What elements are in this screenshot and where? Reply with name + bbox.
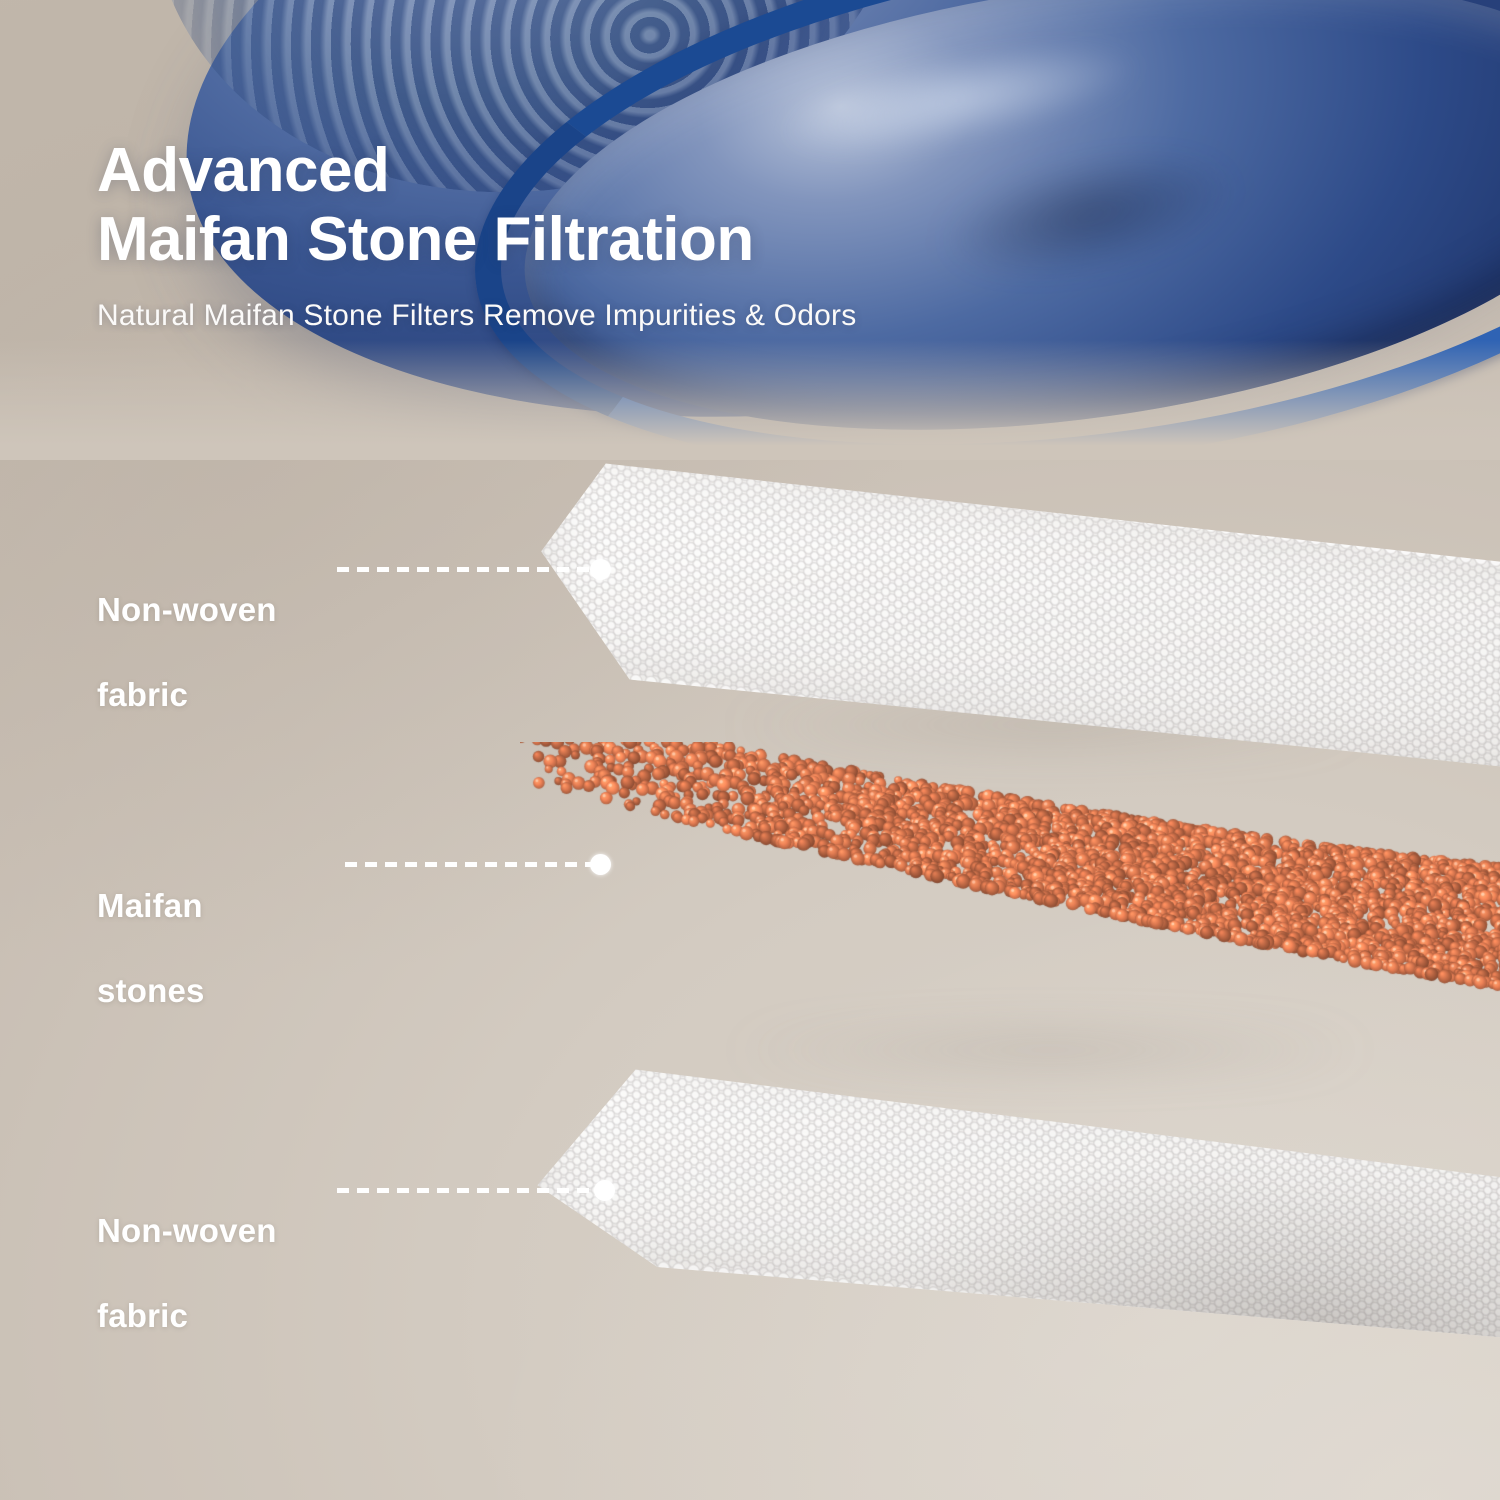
- callout-label-line-1: Non-woven: [97, 589, 277, 631]
- layer-non-woven-fabric-top: [539, 447, 1500, 789]
- layer-non-woven-fabric-bottom: [536, 1048, 1500, 1349]
- fabric-shading-bottom: [536, 1048, 1500, 1349]
- product-bottom-fade: [0, 340, 1500, 460]
- product-feature-graphic: Advanced Maifan Stone Filtration Natural…: [0, 0, 1500, 1500]
- page-title: Advanced Maifan Stone Filtration: [97, 136, 1097, 275]
- maifan-stone-granules: [520, 742, 1500, 1032]
- leader-dot-non-woven-fabric-bottom: [594, 1180, 615, 1201]
- fabric-shading-top: [539, 447, 1500, 789]
- leader-dot-maifan-stones: [590, 854, 611, 875]
- headline-block: Advanced Maifan Stone Filtration Natural…: [97, 136, 1097, 333]
- leader-dot-non-woven-fabric-top: [590, 559, 611, 580]
- callout-label-line-2: stones: [97, 970, 205, 1012]
- callout-label-non-woven-fabric-top: Non-woven fabric: [97, 547, 277, 758]
- layer-maifan-stones: [520, 742, 1500, 1032]
- callout-label-maifan-stones: Maifan stones: [97, 843, 205, 1054]
- leader-line-non-woven-fabric-bottom: [337, 1188, 609, 1193]
- leader-line-maifan-stones: [345, 862, 605, 867]
- page-subtitle: Natural Maifan Stone Filters Remove Impu…: [97, 299, 1097, 333]
- callout-label-line-1: Non-woven: [97, 1210, 277, 1252]
- leader-line-non-woven-fabric-top: [337, 567, 605, 572]
- callout-label-non-woven-fabric-bottom: Non-woven fabric: [97, 1168, 277, 1379]
- callout-label-line-2: fabric: [97, 674, 277, 716]
- title-line-2: Maifan Stone Filtration: [97, 205, 754, 274]
- callout-label-line-2: fabric: [97, 1295, 277, 1337]
- callout-label-line-1: Maifan: [97, 885, 205, 927]
- title-line-1: Advanced: [97, 136, 389, 205]
